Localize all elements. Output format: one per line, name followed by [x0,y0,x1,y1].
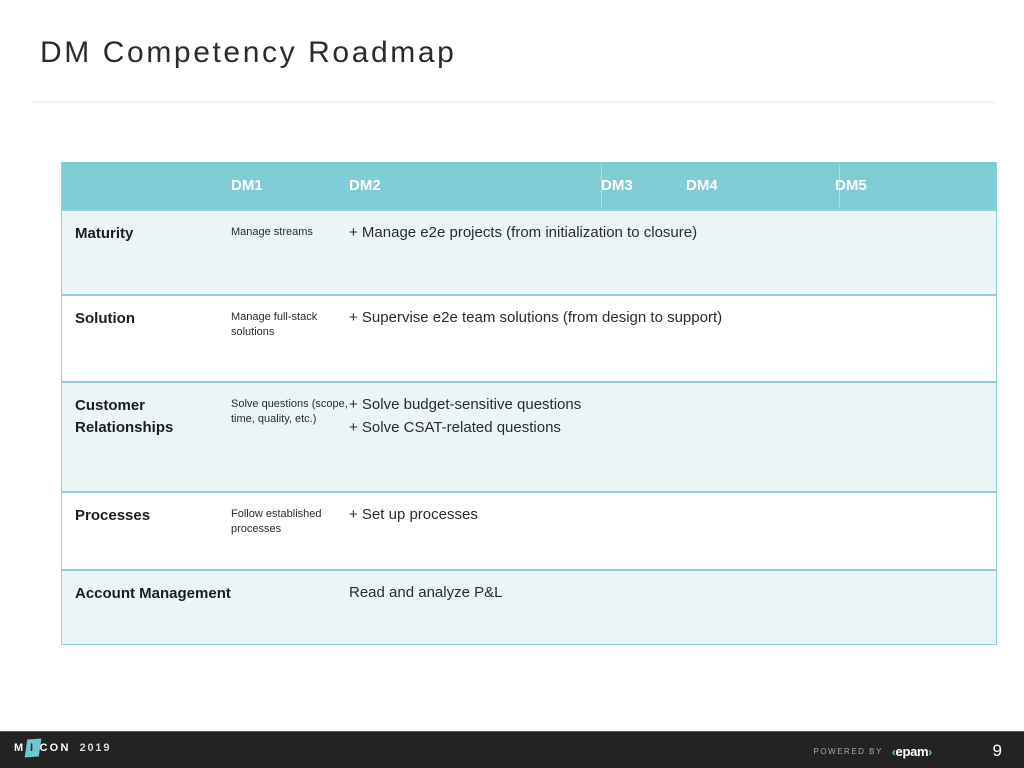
row-competency-label: Processes [62,493,231,569]
powered-by-label: POWERED BY [814,748,883,756]
row-competency-label: Solution [62,296,231,381]
header-column-divider-2 [839,164,840,207]
mitcon-wordmark: M TCON I [14,743,71,754]
row-dm2-cell: + Supervise e2e team solutions (from des… [349,296,996,381]
row-dm1-cell: Follow established processes [231,493,349,569]
row-dm1-cell [231,571,349,644]
table-header-dm5: DM5 [820,178,996,193]
slide-footer: M TCON I 2019 POWERED BY ‹epam› 9 [0,731,1024,768]
competency-roadmap-table: DM1 DM2 DM3 DM4 DM5 Maturity Manage stre… [61,162,997,645]
mitcon-letter-i: I [30,743,35,754]
table-row: Account Management Read and analyze P&L [62,569,996,644]
epam-logo: ‹epam› [892,745,932,758]
table-header-dm3: DM3 [601,178,686,193]
table-header-dm1: DM1 [231,178,349,193]
table-row: Processes Follow established processes +… [62,491,996,569]
table-row: Customer Relationships Solve questions (… [62,381,996,491]
row-dm1-cell: Solve questions (scope, time, quality, e… [231,383,349,491]
mitcon-year: 2019 [80,743,112,754]
epam-bracket-right-icon: › [928,745,932,759]
row-competency-label: Account Management [62,571,231,644]
table-header-dm4: DM4 [686,178,820,193]
page-title: DM Competency Roadmap [40,36,456,70]
row-competency-label: Maturity [62,211,231,294]
row-competency-label: Customer Relationships [62,383,231,491]
table-header-dm2: DM2 [349,178,601,193]
header-column-divider-1 [601,164,602,207]
row-dm2-cell: + Manage e2e projects (from initializati… [349,211,996,294]
mitcon-letters-text: M TCON [14,742,71,754]
title-divider [32,101,995,103]
page-number: 9 [993,742,1002,759]
row-dm2-cell: + Set up processes [349,493,996,569]
table-row: Solution Manage full-stack solutions + S… [62,294,996,381]
row-dm1-cell: Manage full-stack solutions [231,296,349,381]
row-dm2-cell: Read and analyze P&L [349,571,996,644]
mitcon-logo: M TCON I 2019 [14,743,111,754]
epam-wordmark: epam [896,744,929,759]
table-header-row: DM1 DM2 DM3 DM4 DM5 [62,162,996,209]
row-dm2-cell: + Solve budget-sensitive questions+ Solv… [349,383,996,491]
table-row: Maturity Manage streams + Manage e2e pro… [62,209,996,294]
powered-by-block: POWERED BY ‹epam› [814,745,932,758]
row-dm1-cell: Manage streams [231,211,349,294]
